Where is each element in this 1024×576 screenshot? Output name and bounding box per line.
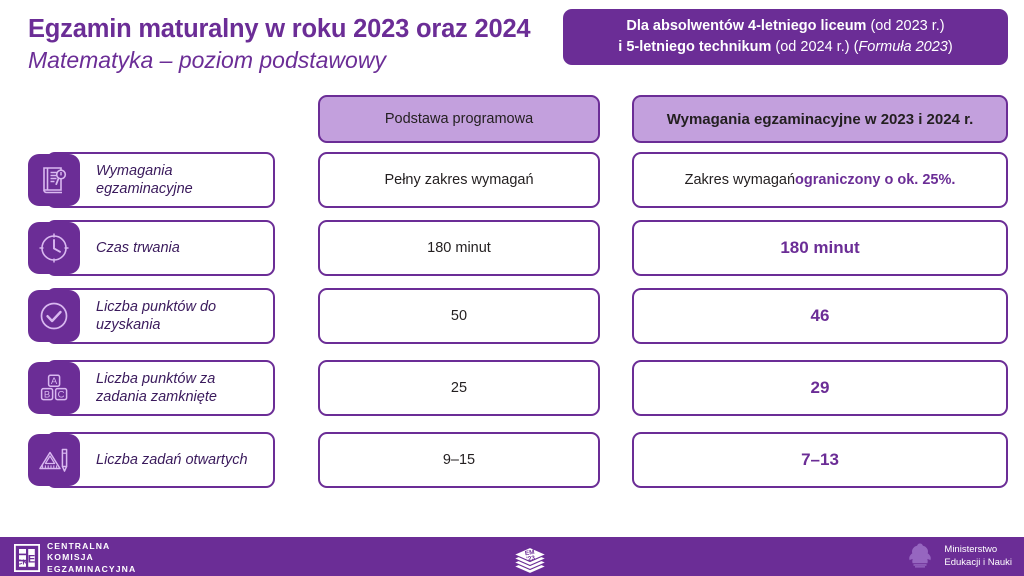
audience-badge-line-1: Dla absolwentów 4-letniego liceum (od 20… — [571, 16, 1000, 37]
cell-wymagania-row-5-text: 7–13 — [801, 450, 839, 470]
men-branding: Ministerstwo Edukacji i Nauki — [903, 540, 1012, 573]
cke-name-line-1: CENTRALNA — [47, 541, 136, 552]
audience-badge-line-2: i 5-letniego technikum (od 2024 r.) (For… — [571, 37, 1000, 58]
clock-icon — [28, 222, 80, 274]
ruler-pencil-icon — [28, 434, 80, 486]
audience-badge-formula: Formuła 2023 — [858, 39, 947, 55]
column-header-podstawa-programowa: Podstawa programowa — [318, 95, 600, 143]
row-label-text: Liczba zadań otwartych — [96, 451, 248, 469]
audience-badge: Dla absolwentów 4-letniego liceum (od 20… — [563, 9, 1008, 65]
cell-podstawa-row-5-text: 9–15 — [443, 452, 475, 468]
column-header-wymagania-egzaminacyjne-label: Wymagania egzaminacyjne w 2023 i 2024 r. — [667, 111, 974, 128]
svg-text:'23: '23 — [526, 555, 536, 563]
cell-podstawa-row-4: 25 — [318, 360, 600, 416]
cell-podstawa-row-1: Pełny zakres wymagań — [318, 152, 600, 208]
cell-wymagania-row-1-plain: Zakres wymagań — [685, 172, 795, 188]
table-row: Liczba punktów za zadania zamknięte A B … — [0, 360, 1024, 416]
cell-wymagania-row-3-text: 46 — [811, 306, 830, 326]
slide-root: Egzamin maturalny w roku 2023 oraz 2024 … — [0, 0, 1024, 576]
svg-text:B: B — [44, 389, 50, 400]
cell-wymagania-row-2-text: 180 minut — [780, 238, 859, 258]
cke-name-line-3: EGZAMINACYJNA — [47, 564, 136, 575]
men-name-line-2: Edukacji i Nauki — [944, 557, 1012, 570]
row-label-liczba-punktow-zadania-zamkniete: Liczba punktów za zadania zamknięte — [46, 360, 275, 416]
row-label-czas-trwania: Czas trwania — [46, 220, 275, 276]
men-name: Ministerstwo Edukacji i Nauki — [944, 544, 1012, 570]
men-name-line-1: Ministerstwo — [944, 544, 1012, 557]
table-row: Liczba punktów do uzyskania 50 46 — [0, 288, 1024, 344]
cell-podstawa-row-5: 9–15 — [318, 432, 600, 488]
column-header-wymagania-egzaminacyjne: Wymagania egzaminacyjne w 2023 i 2024 r. — [632, 95, 1008, 143]
check-circle-icon — [28, 290, 80, 342]
footer-bar: CK E CENTRALNA KOMISJA EGZAMINACYJNA EM … — [0, 537, 1024, 576]
cell-wymagania-row-4-text: 29 — [811, 378, 830, 398]
cell-wymagania-row-2: 180 minut — [632, 220, 1008, 276]
cell-wymagania-row-4: 29 — [632, 360, 1008, 416]
cell-podstawa-row-4-text: 25 — [451, 380, 467, 396]
svg-text:C: C — [58, 389, 65, 400]
page-title: Egzamin maturalny w roku 2023 oraz 2024 — [28, 14, 530, 44]
svg-text:A: A — [51, 376, 58, 387]
book-magnifier-icon — [28, 154, 80, 206]
cke-name-line-2: KOMISJA — [47, 552, 136, 563]
polish-eagle-emblem-icon — [903, 540, 937, 573]
cke-name: CENTRALNA KOMISJA EGZAMINACYJNA — [47, 541, 136, 575]
audience-badge-line-2-rest: (od 2024 r.) ( — [771, 39, 858, 55]
table-row: Wymagania egzaminacyjne Pełny zakres wym… — [0, 152, 1024, 208]
page-subtitle: Matematyka – poziom podstawowy — [28, 47, 530, 75]
audience-badge-line-1-bold: Dla absolwentów 4-letniego liceum — [626, 18, 866, 34]
abc-blocks-icon: A B C — [28, 362, 80, 414]
audience-badge-line-2-tail: ) — [948, 39, 953, 55]
cke-logo-icon: CK E — [14, 544, 40, 572]
table-row: Liczba zadań otwartych 9–15 7–13 — [0, 432, 1024, 488]
cell-wymagania-row-3: 46 — [632, 288, 1008, 344]
row-label-text: Wymagania egzaminacyjne — [96, 162, 265, 198]
cell-podstawa-row-3-text: 50 — [451, 308, 467, 324]
cell-wymagania-row-1-highlight: ograniczony o ok. 25%. — [795, 172, 955, 188]
row-label-wymagania-egzaminacyjne: Wymagania egzaminacyjne — [46, 152, 275, 208]
cell-podstawa-row-2-text: 180 minut — [427, 240, 491, 256]
cell-podstawa-row-3: 50 — [318, 288, 600, 344]
audience-badge-line-2-bold: i 5-letniego technikum — [618, 39, 771, 55]
row-label-liczba-punktow-do-uzyskania: Liczba punktów do uzyskania — [46, 288, 275, 344]
column-header-podstawa-programowa-label: Podstawa programowa — [385, 111, 533, 127]
cke-branding: CK E CENTRALNA KOMISJA EGZAMINACYJNA — [14, 541, 136, 575]
svg-text:E: E — [28, 554, 35, 566]
table-row: Czas trwania 180 minut 180 minut — [0, 220, 1024, 276]
row-label-text: Liczba punktów za zadania zamknięte — [96, 370, 265, 406]
cell-wymagania-row-1: Zakres wymagań ograniczony o ok. 25%. — [632, 152, 1008, 208]
cell-podstawa-row-2: 180 minut — [318, 220, 600, 276]
audience-badge-line-1-rest: (od 2023 r.) — [866, 18, 944, 34]
row-label-liczba-zadan-otwartych: Liczba zadań otwartych — [46, 432, 275, 488]
cell-wymagania-row-5: 7–13 — [632, 432, 1008, 488]
cell-podstawa-row-1-text: Pełny zakres wymagań — [384, 172, 533, 188]
row-label-text: Liczba punktów do uzyskania — [96, 298, 265, 334]
title-block: Egzamin maturalny w roku 2023 oraz 2024 … — [28, 14, 530, 75]
row-label-text: Czas trwania — [96, 239, 180, 257]
svg-text:CK: CK — [17, 558, 28, 567]
exam-papers-stack-icon: EM '23 — [500, 541, 560, 574]
